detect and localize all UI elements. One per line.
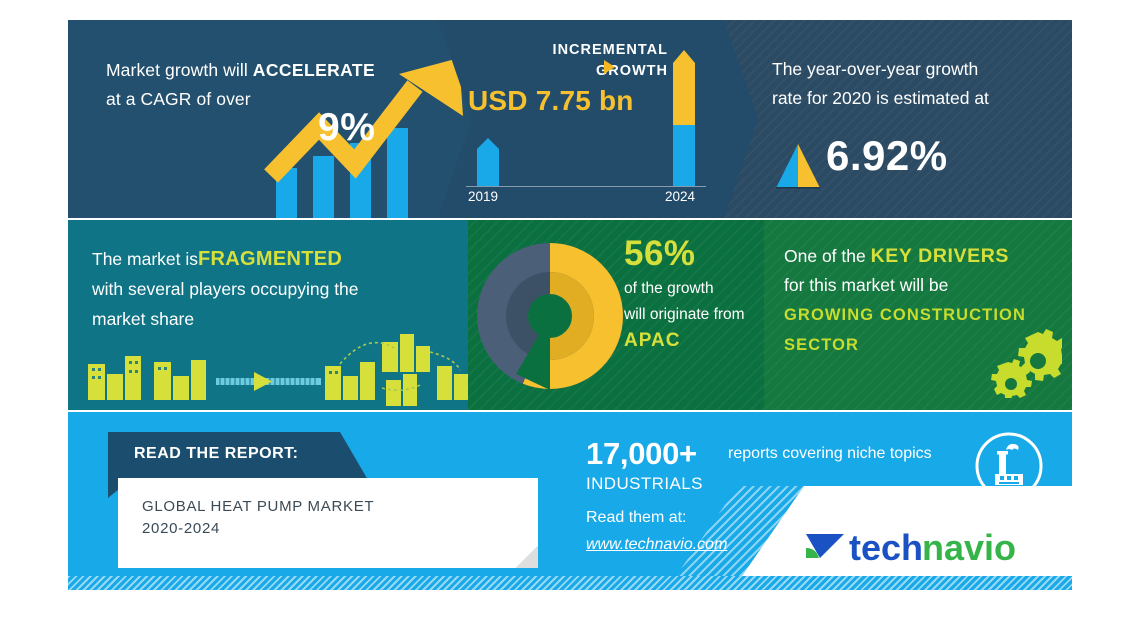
yoy-value: 6.92% bbox=[826, 132, 948, 180]
yoy-line2: rate for 2020 is estimated at bbox=[772, 84, 1034, 113]
yoy-line1: The year-over-year growth bbox=[772, 55, 1034, 84]
apac-text: of the growth will originate from bbox=[624, 276, 764, 328]
apac-region: APAC bbox=[624, 330, 680, 352]
bar-2019-tip bbox=[477, 138, 499, 149]
panel-yoy-growth: The year-over-year growth rate for 2020 … bbox=[724, 20, 1072, 218]
factory-icon bbox=[973, 430, 1045, 502]
infographic-canvas: The year-over-year growth rate for 2020 … bbox=[0, 0, 1140, 627]
row-footer: READ THE REPORT: GLOBAL HEAT PUMP MARKET… bbox=[68, 412, 1072, 590]
axis-label-2019: 2019 bbox=[468, 189, 498, 204]
row-middle: One of the KEY DRIVERS for this market w… bbox=[68, 220, 1072, 410]
report-category: INDUSTRIALS bbox=[586, 474, 703, 494]
read-the-report-ribbon: READ THE REPORT: bbox=[108, 432, 368, 480]
axis-line bbox=[466, 186, 706, 187]
bar-2024-tip bbox=[673, 50, 695, 63]
bar-2024-incremental bbox=[673, 63, 695, 125]
bar-2019 bbox=[477, 138, 499, 186]
incremental-value: USD 7.75 bn bbox=[468, 85, 634, 117]
infographic-board: The year-over-year growth rate for 2020 … bbox=[68, 20, 1072, 590]
report-count-suffix: reports covering niche topics bbox=[728, 445, 932, 463]
bar-2024 bbox=[673, 50, 695, 186]
paper-plane-icon bbox=[806, 534, 844, 558]
panel-fragmented: The market isFRAGMENTED with several pla… bbox=[68, 220, 468, 410]
panel-key-drivers: One of the KEY DRIVERS for this market w… bbox=[760, 220, 1072, 410]
cagr-line1-plain: Market growth will bbox=[106, 60, 253, 80]
apac-line2: will originate from bbox=[624, 302, 764, 328]
gears-icon bbox=[988, 328, 1062, 398]
footer-dot-strip bbox=[68, 576, 1072, 590]
logo-text-tech: tech bbox=[849, 527, 923, 568]
fragmented-line2: with several players occupying the bbox=[92, 279, 359, 299]
logo-text-navio: navio bbox=[922, 527, 1016, 568]
report-count: 17,000+ bbox=[586, 436, 697, 472]
report-title-line2: 2020-2024 bbox=[142, 520, 220, 537]
drivers-line1-plain: One of the bbox=[784, 246, 871, 266]
ribbon-label: READ THE REPORT: bbox=[134, 445, 298, 463]
technavio-url-link[interactable]: www.technavio.com bbox=[586, 536, 727, 554]
panel-cagr: Market growth will ACCELERATE at a CAGR … bbox=[68, 20, 472, 218]
incremental-title: INCREMENTAL GROWTH bbox=[468, 40, 668, 82]
triangle-right-icon bbox=[604, 60, 615, 74]
fragmented-line3: market share bbox=[92, 309, 194, 329]
fragmented-line1-bold: FRAGMENTED bbox=[198, 248, 342, 270]
city-skyline-icon bbox=[82, 330, 468, 408]
panel-apac: 56% of the growth will originate from AP… bbox=[464, 220, 764, 410]
bar-2019-body bbox=[477, 149, 499, 186]
drivers-line3: GROWING CONSTRUCTION bbox=[784, 306, 1026, 324]
axis-label-2024: 2024 bbox=[665, 189, 695, 204]
drivers-line4: SECTOR bbox=[784, 336, 859, 354]
bar-2024-base bbox=[673, 125, 695, 186]
triangle-up-icon bbox=[774, 142, 822, 190]
report-title-line1: GLOBAL HEAT PUMP MARKET bbox=[142, 498, 374, 515]
read-them-at-label: Read them at: bbox=[586, 509, 687, 527]
drivers-line2: for this market will be bbox=[784, 275, 948, 295]
technavio-logo[interactable]: tech navio bbox=[804, 524, 1054, 572]
apac-value: 56% bbox=[624, 234, 696, 274]
fragmented-text: The market isFRAGMENTED with several pla… bbox=[92, 244, 442, 334]
cagr-value: 9% bbox=[318, 106, 375, 150]
yoy-text: The year-over-year growth rate for 2020 … bbox=[772, 55, 1034, 113]
cagr-line2: at a CAGR of over bbox=[106, 89, 251, 109]
apac-line1: of the growth bbox=[624, 276, 764, 302]
donut-chart-icon bbox=[476, 242, 624, 390]
report-title-card[interactable]: GLOBAL HEAT PUMP MARKET 2020-2024 bbox=[118, 478, 538, 568]
panel-incremental-growth: INCREMENTAL GROWTH USD 7.75 bn 2019 2024 bbox=[438, 20, 758, 218]
fragmented-line1-plain: The market is bbox=[92, 249, 198, 269]
incremental-title-line1: INCREMENTAL bbox=[553, 42, 668, 58]
row-top: The year-over-year growth rate for 2020 … bbox=[68, 20, 1072, 218]
drivers-line1-bold: KEY DRIVERS bbox=[871, 245, 1009, 267]
